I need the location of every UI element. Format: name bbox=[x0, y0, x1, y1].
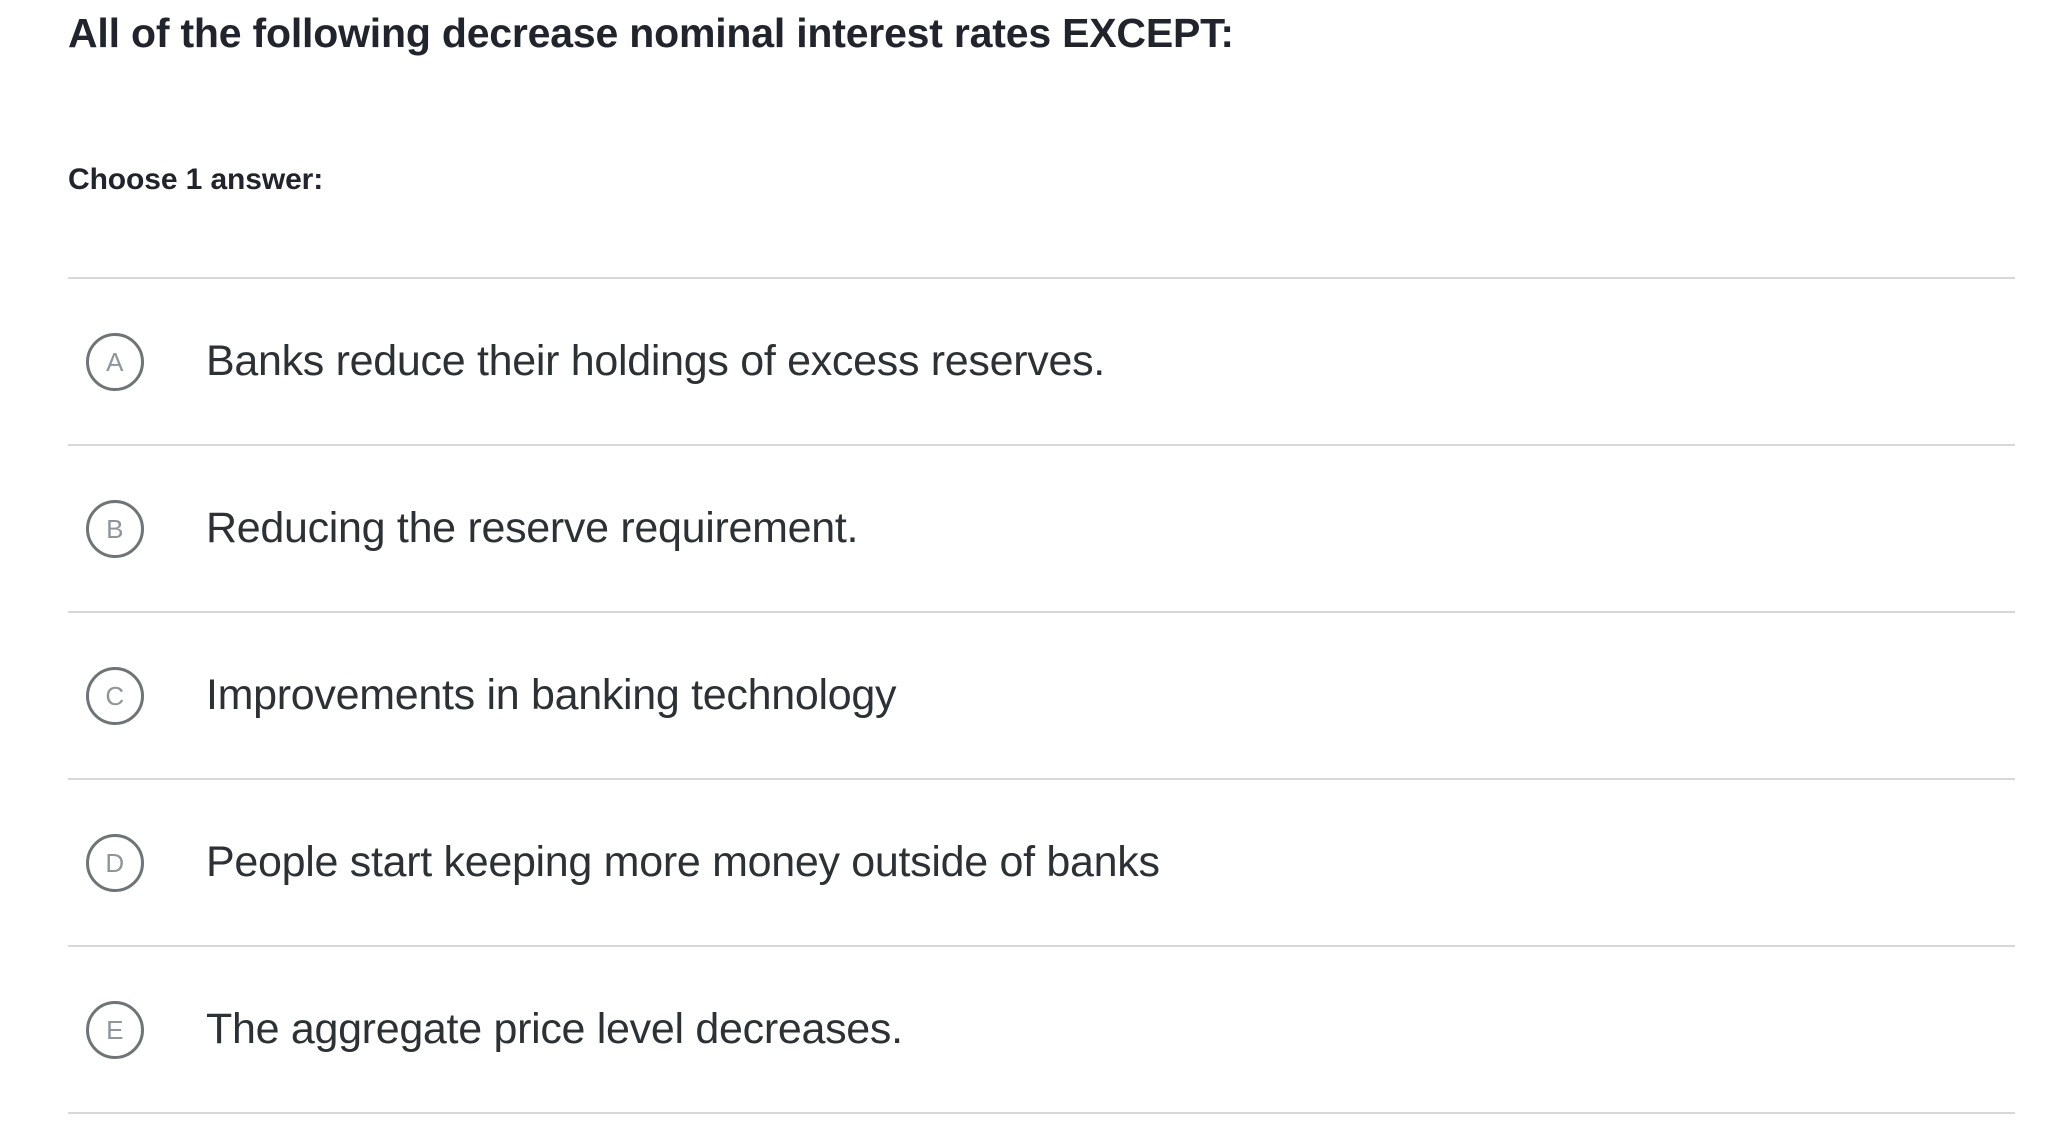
answer-letter-d: D bbox=[105, 850, 124, 876]
answer-divider-bottom bbox=[68, 1112, 2015, 1114]
answer-letter-c: C bbox=[105, 683, 124, 709]
answer-text-d: People start keeping more money outside … bbox=[206, 837, 2015, 889]
answer-text-b: Reducing the reserve requirement. bbox=[206, 503, 2015, 555]
answer-text-a: Banks reduce their holdings of excess re… bbox=[206, 336, 2015, 388]
question-stem: All of the following decrease nominal in… bbox=[68, 8, 1968, 59]
answer-choice-d[interactable]: D People start keeping more money outsid… bbox=[68, 780, 2015, 945]
answer-choice-a[interactable]: A Banks reduce their holdings of excess … bbox=[68, 279, 2015, 444]
answer-letter-b: B bbox=[106, 516, 124, 542]
answer-letter-badge-b[interactable]: B bbox=[86, 500, 144, 558]
question-page: All of the following decrease nominal in… bbox=[0, 0, 2048, 1147]
answer-choice-c[interactable]: C Improvements in banking technology bbox=[68, 613, 2015, 778]
answer-letter-a: A bbox=[106, 349, 124, 375]
answer-letter-badge-d[interactable]: D bbox=[86, 834, 144, 892]
answer-letter-badge-a[interactable]: A bbox=[86, 333, 144, 391]
answer-choice-e[interactable]: E The aggregate price level decreases. bbox=[68, 947, 2015, 1112]
answer-text-e: The aggregate price level decreases. bbox=[206, 1004, 2015, 1056]
answer-letter-e: E bbox=[106, 1017, 124, 1043]
answer-choice-list: A Banks reduce their holdings of excess … bbox=[68, 277, 2015, 1114]
answer-letter-badge-e[interactable]: E bbox=[86, 1001, 144, 1059]
answer-letter-badge-c[interactable]: C bbox=[86, 667, 144, 725]
answer-choice-b[interactable]: B Reducing the reserve requirement. bbox=[68, 446, 2015, 611]
choose-answer-label: Choose 1 answer: bbox=[68, 160, 323, 199]
answer-text-c: Improvements in banking technology bbox=[206, 670, 2015, 722]
